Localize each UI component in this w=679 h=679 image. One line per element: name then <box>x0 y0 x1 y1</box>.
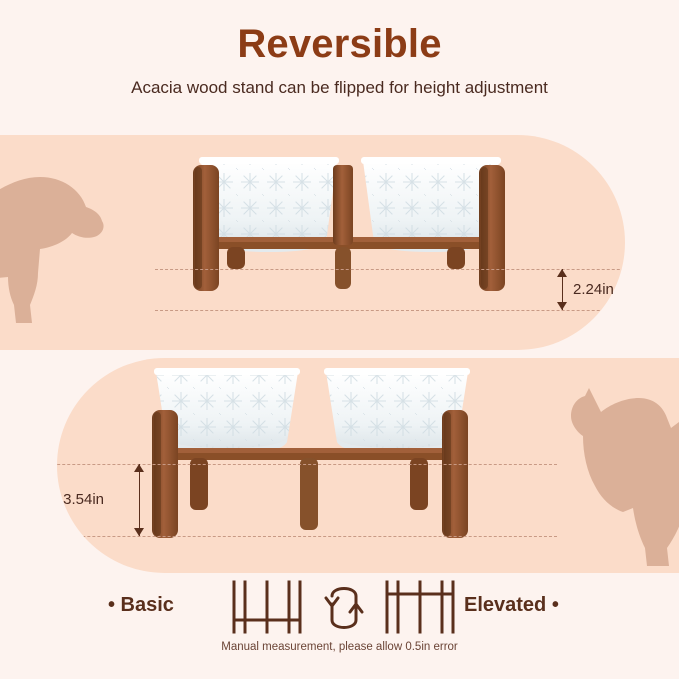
page-subtitle: Acacia wood stand can be flipped for hei… <box>0 78 679 98</box>
legend-basic-label: • Basic <box>108 594 174 617</box>
legend-elevated-label: Elevated • <box>464 594 559 617</box>
panel-basic <box>0 135 625 350</box>
guide-line-bottom-lower <box>57 536 557 537</box>
dimension-basic-label: 2.24in <box>573 281 614 298</box>
guide-line-top-lower <box>155 310 625 311</box>
product-image-basic <box>185 143 515 303</box>
dog-silhouette-icon <box>0 155 145 335</box>
dimension-elevated-arrow-down <box>134 528 144 536</box>
dimension-basic-arrow-up <box>557 269 567 277</box>
dimension-elevated-line <box>139 464 140 536</box>
product-image-elevated <box>142 362 482 542</box>
frenchie-silhouette-icon <box>527 366 679 571</box>
dimension-elevated-arrow-up <box>134 464 144 472</box>
stand-high-crossbar-icon <box>381 578 459 636</box>
dimension-elevated <box>132 464 146 536</box>
page-title: Reversible <box>0 22 679 67</box>
dimension-basic <box>555 269 569 310</box>
dimension-basic-arrow-down <box>557 302 567 310</box>
flip-rotate-icon <box>318 582 370 634</box>
footnote-text: Manual measurement, please allow 0.5in e… <box>0 641 679 653</box>
panel-elevated <box>57 358 679 573</box>
infographic-canvas: Reversible Acacia wood stand can be flip… <box>0 0 679 679</box>
legend-row: • Basic <box>0 578 679 640</box>
dimension-elevated-label: 3.54in <box>63 491 104 508</box>
stand-low-crossbar-icon <box>228 578 306 636</box>
